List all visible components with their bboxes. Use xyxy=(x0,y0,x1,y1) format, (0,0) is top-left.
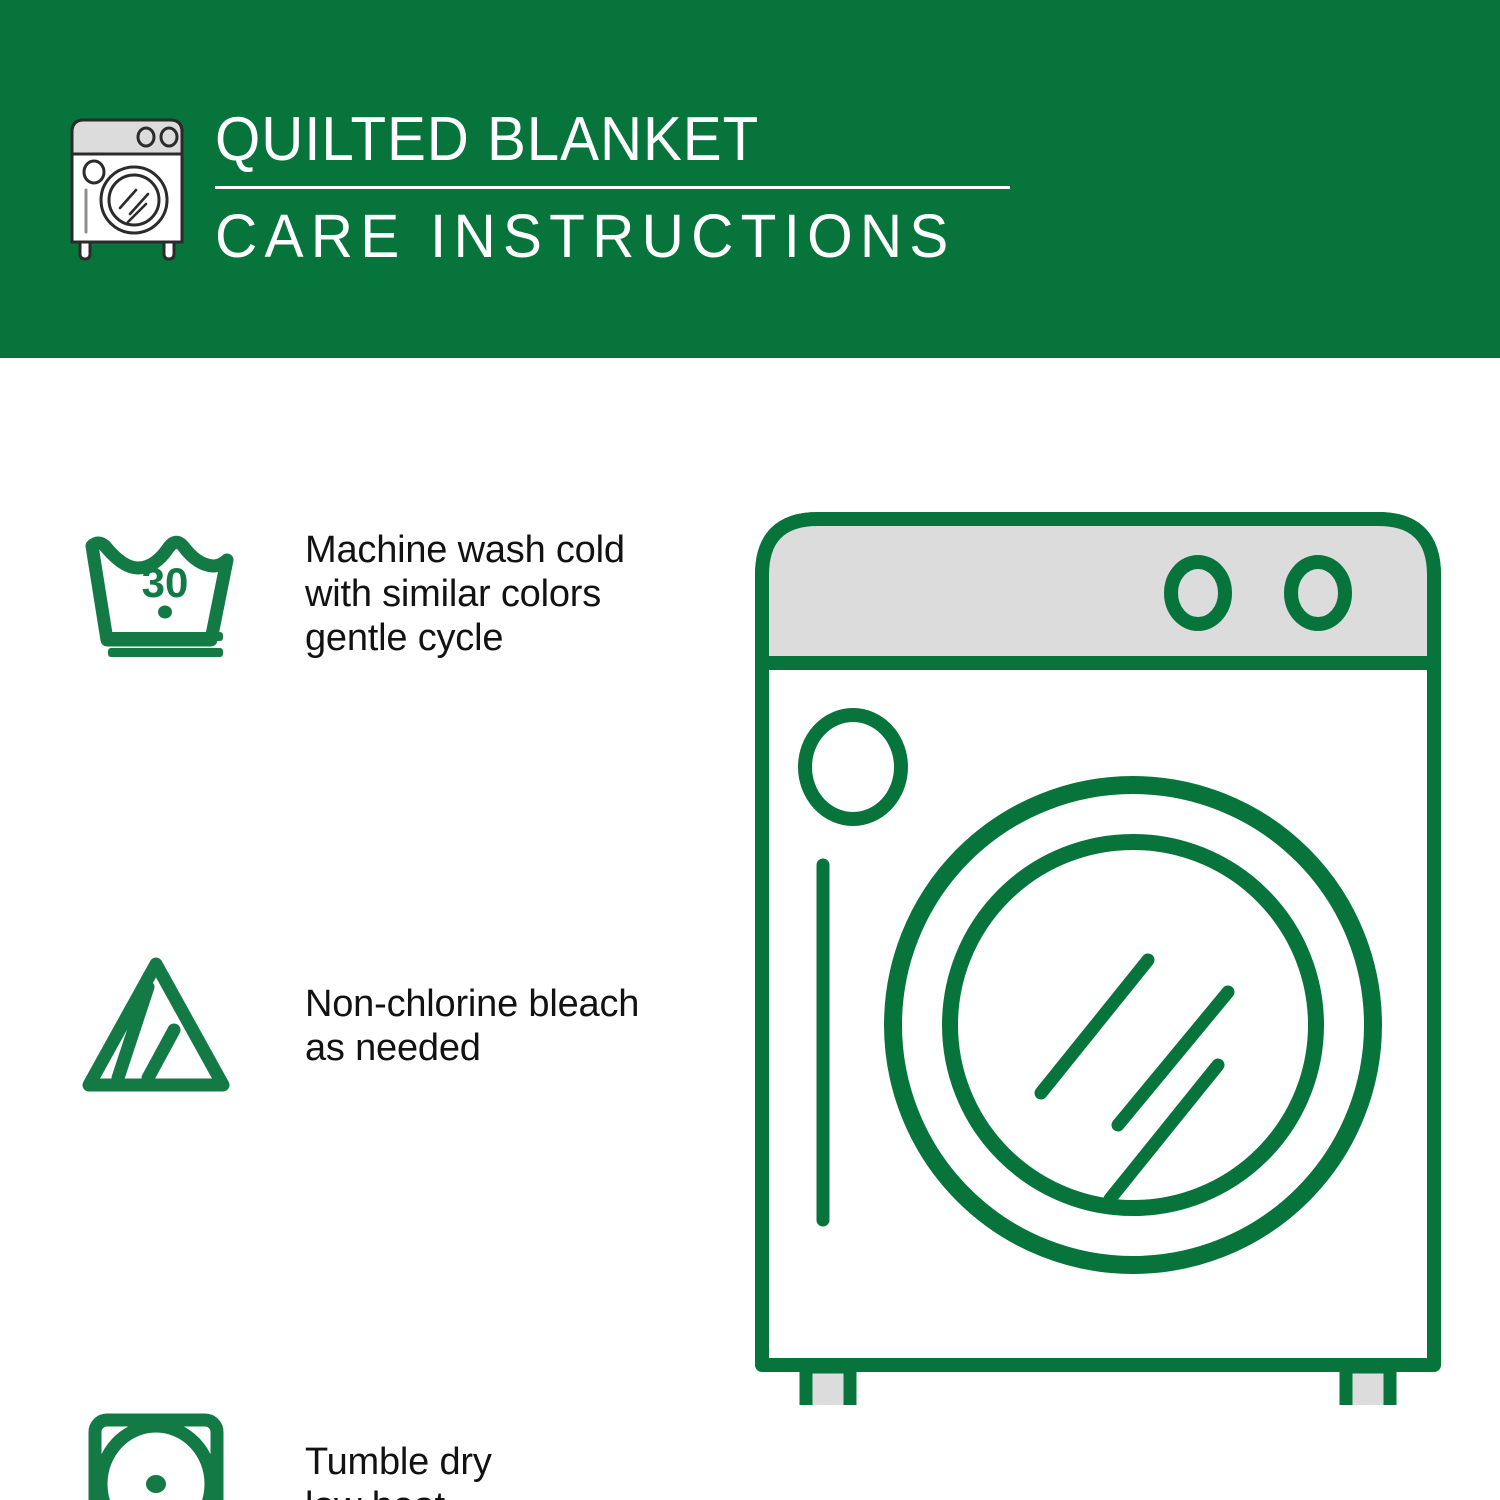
detergent-port xyxy=(805,715,901,819)
care-row-iron: Iron if needed low heat xyxy=(70,1160,730,1380)
care-text-tumble-dry: Tumble dry low heat xyxy=(305,1440,492,1500)
care-row-wash: 30 Machine wash cold with similar colors… xyxy=(70,500,730,720)
care-instruction-list: 30 Machine wash cold with similar colors… xyxy=(70,500,730,1380)
header-band: QUILTED BLANKET CARE INSTRUCTIONS xyxy=(0,0,1500,358)
care-line: gentle cycle xyxy=(305,616,625,660)
care-row-tumble-dry: Tumble dry low heat xyxy=(70,940,730,1160)
washing-machine-illustration xyxy=(748,505,1448,1405)
care-instructions-infographic: QUILTED BLANKET CARE INSTRUCTIONS 30 xyxy=(0,0,1500,1500)
washing-machine-icon xyxy=(62,104,192,264)
knob-left xyxy=(1171,562,1225,624)
page-title: QUILTED BLANKET xyxy=(215,104,976,176)
care-line: low heat xyxy=(305,1484,492,1500)
page-subtitle: CARE INSTRUCTIONS xyxy=(215,201,993,271)
care-line: with similar colors xyxy=(305,572,625,616)
tumble-dry-low-icon xyxy=(78,1410,253,1500)
title-divider xyxy=(215,186,1010,189)
leg-left xyxy=(806,1367,850,1405)
care-line: Tumble dry xyxy=(305,1440,492,1484)
care-text-wash: Machine wash cold with similar colors ge… xyxy=(305,528,625,660)
wash-tub-30-icon: 30 xyxy=(78,524,253,674)
leg-right xyxy=(1346,1367,1390,1405)
svg-text:30: 30 xyxy=(142,559,189,606)
knob-right xyxy=(1291,562,1345,624)
care-row-bleach: Non-chlorine bleach as needed xyxy=(70,720,730,940)
care-line: Machine wash cold xyxy=(305,528,625,572)
header-text-block: QUILTED BLANKET CARE INSTRUCTIONS xyxy=(215,104,1025,271)
